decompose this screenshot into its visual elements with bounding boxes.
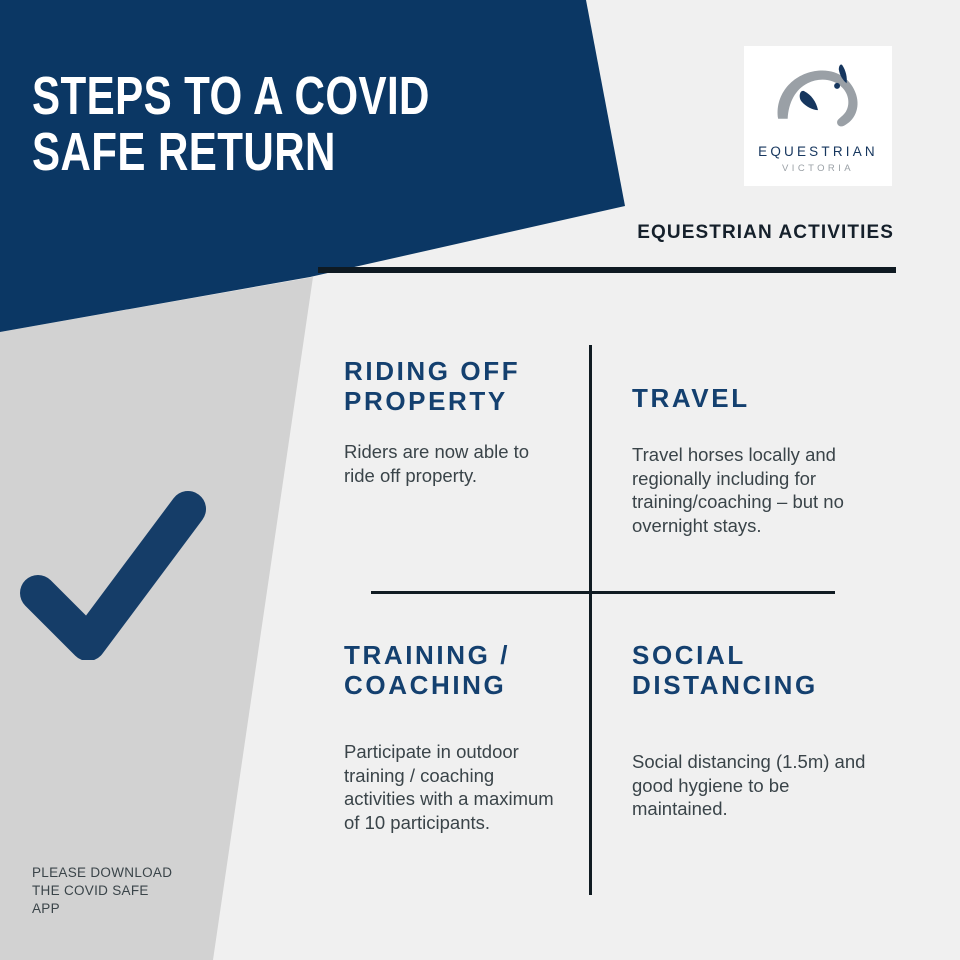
footer-line-2: THE COVID SAFE [32, 882, 212, 900]
page-title: STEPS TO A COVID SAFE RETURN [32, 68, 438, 180]
horizontal-divider [371, 591, 835, 594]
quadrant-training-coaching: TRAINING / COACHING Participate in outdo… [344, 640, 559, 834]
quadrant-travel: TRAVEL Travel horses locally and regiona… [632, 383, 882, 537]
quadrant-heading: TRAVEL [632, 383, 882, 413]
quadrant-body: Participate in outdoor training / coachi… [344, 740, 559, 834]
quadrant-body: Social distancing (1.5m) and good hygien… [632, 750, 882, 821]
footer-line-3: APP [32, 900, 212, 918]
page-title-line-2: SAFE RETURN [32, 124, 438, 180]
footer-note: PLEASE DOWNLOAD THE COVID SAFE APP [32, 864, 212, 918]
page-title-line-1: STEPS TO A COVID [32, 68, 438, 124]
poster-canvas: STEPS TO A COVID SAFE RETURN EQUESTRIAN … [0, 0, 960, 960]
logo-name-text: EQUESTRIAN [758, 144, 878, 159]
checkmark-icon [20, 485, 206, 660]
quadrant-heading: RIDING OFF PROPERTY [344, 356, 559, 416]
quadrant-body: Travel horses locally and regionally inc… [632, 443, 882, 537]
quadrant-social-distancing: SOCIAL DISTANCING Social distancing (1.5… [632, 640, 882, 821]
equestrian-victoria-logo: EQUESTRIAN VICTORIA [744, 46, 892, 186]
logo-subtitle-text: VICTORIA [782, 163, 854, 174]
footer-line-1: PLEASE DOWNLOAD [32, 864, 212, 882]
quadrant-heading: TRAINING / COACHING [344, 640, 559, 700]
header-divider-rule [318, 267, 896, 273]
horse-head-icon [766, 56, 870, 140]
vertical-divider [589, 345, 592, 895]
quadrant-heading: SOCIAL DISTANCING [632, 640, 882, 700]
section-label: EQUESTRIAN ACTIVITIES [637, 222, 894, 244]
quadrant-body: Riders are now able to ride off property… [344, 440, 559, 487]
quadrant-riding-off-property: RIDING OFF PROPERTY Riders are now able … [344, 356, 559, 487]
